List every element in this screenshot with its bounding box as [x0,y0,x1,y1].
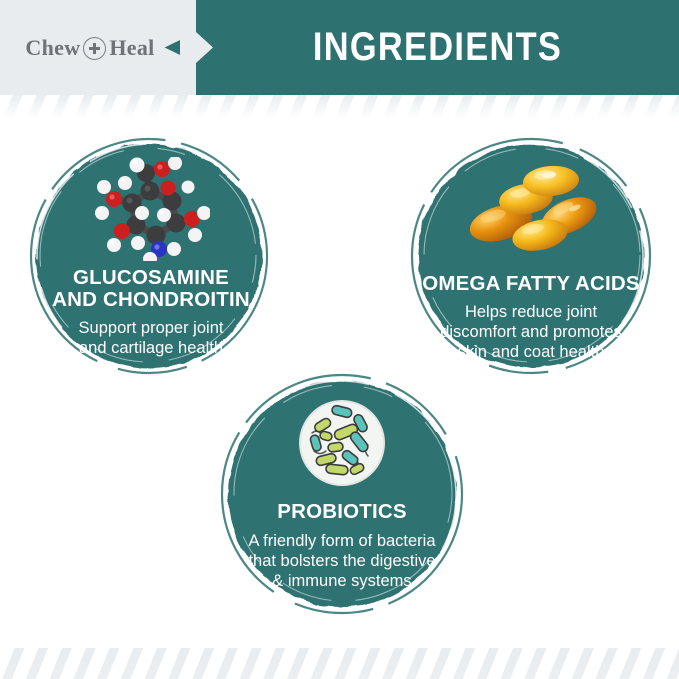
card-description: A friendly form of bacteria that bolster… [248,531,435,591]
logo-word-chew: Chew [25,35,80,61]
bottom-stripe-band [0,648,679,679]
infographic-page: Chew Heal INGREDIENTS [0,0,679,679]
ingredient-card-omega: OMEGA FATTY ACIDS Helps reduce joint dis… [397,131,665,381]
logo-word-heal: Heal [109,35,154,61]
card-description: Support proper joint and cartilage healt… [79,318,224,358]
circled-plus-icon [83,37,106,60]
card-title: GLUCOSAMINE AND CHONDROITIN [52,267,250,311]
ingredient-card-probiotics: PROBIOTICS A friendly form of bacteria t… [208,367,476,621]
page-title: INGREDIENTS [230,0,645,95]
card-content: OMEGA FATTY ACIDS Helps reduce joint dis… [397,131,665,381]
bacteria-cluster-icon [298,399,386,487]
brand-logo: Chew Heal [0,0,180,95]
card-description: Helps reduce joint discomfort and promot… [440,302,622,362]
ingredient-card-glucosamine: GLUCOSAMINE AND CHONDROITIN Support prop… [18,131,284,381]
card-content: GLUCOSAMINE AND CHONDROITIN Support prop… [18,131,284,381]
chevron-right-icon [180,0,214,95]
molecule-ball-and-stick-icon [92,157,210,261]
card-title: PROBIOTICS [277,501,407,523]
fish-oil-softgel-capsules-icon [463,161,599,259]
top-stripe-band [0,95,679,121]
card-content: PROBIOTICS A friendly form of bacteria t… [208,367,476,621]
card-title: OMEGA FATTY ACIDS [422,273,640,295]
